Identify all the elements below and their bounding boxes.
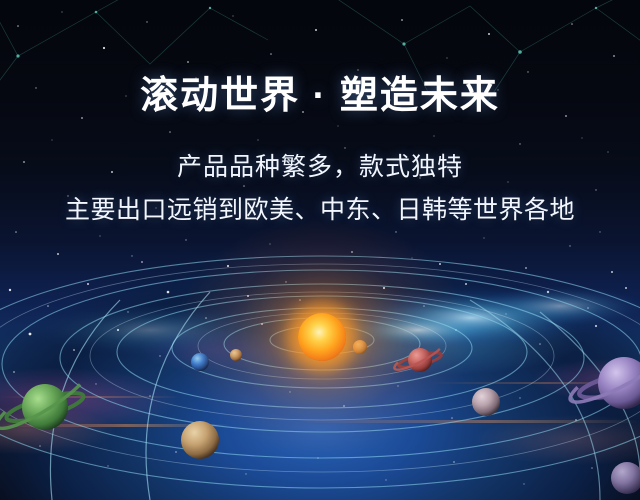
subtitle-line-2: 主要出口远销到欧美、中东、日韩等世界各地 xyxy=(0,185,640,228)
subtitle-line-1: 产品品种繁多，款式独特 xyxy=(0,119,640,185)
banner-text-block: 滚动世界 · 塑造未来 产品品种繁多，款式独特 主要出口远销到欧美、中东、日韩等… xyxy=(0,0,640,228)
planet-lavender-edge xyxy=(611,462,640,494)
space-banner: 滚动世界 · 塑造未来 产品品种繁多，款式独特 主要出口远销到欧美、中东、日韩等… xyxy=(0,0,640,500)
page-title: 滚动世界 · 塑造未来 xyxy=(0,0,640,119)
sun-core xyxy=(298,313,346,361)
planet-grey-pink xyxy=(472,388,500,416)
